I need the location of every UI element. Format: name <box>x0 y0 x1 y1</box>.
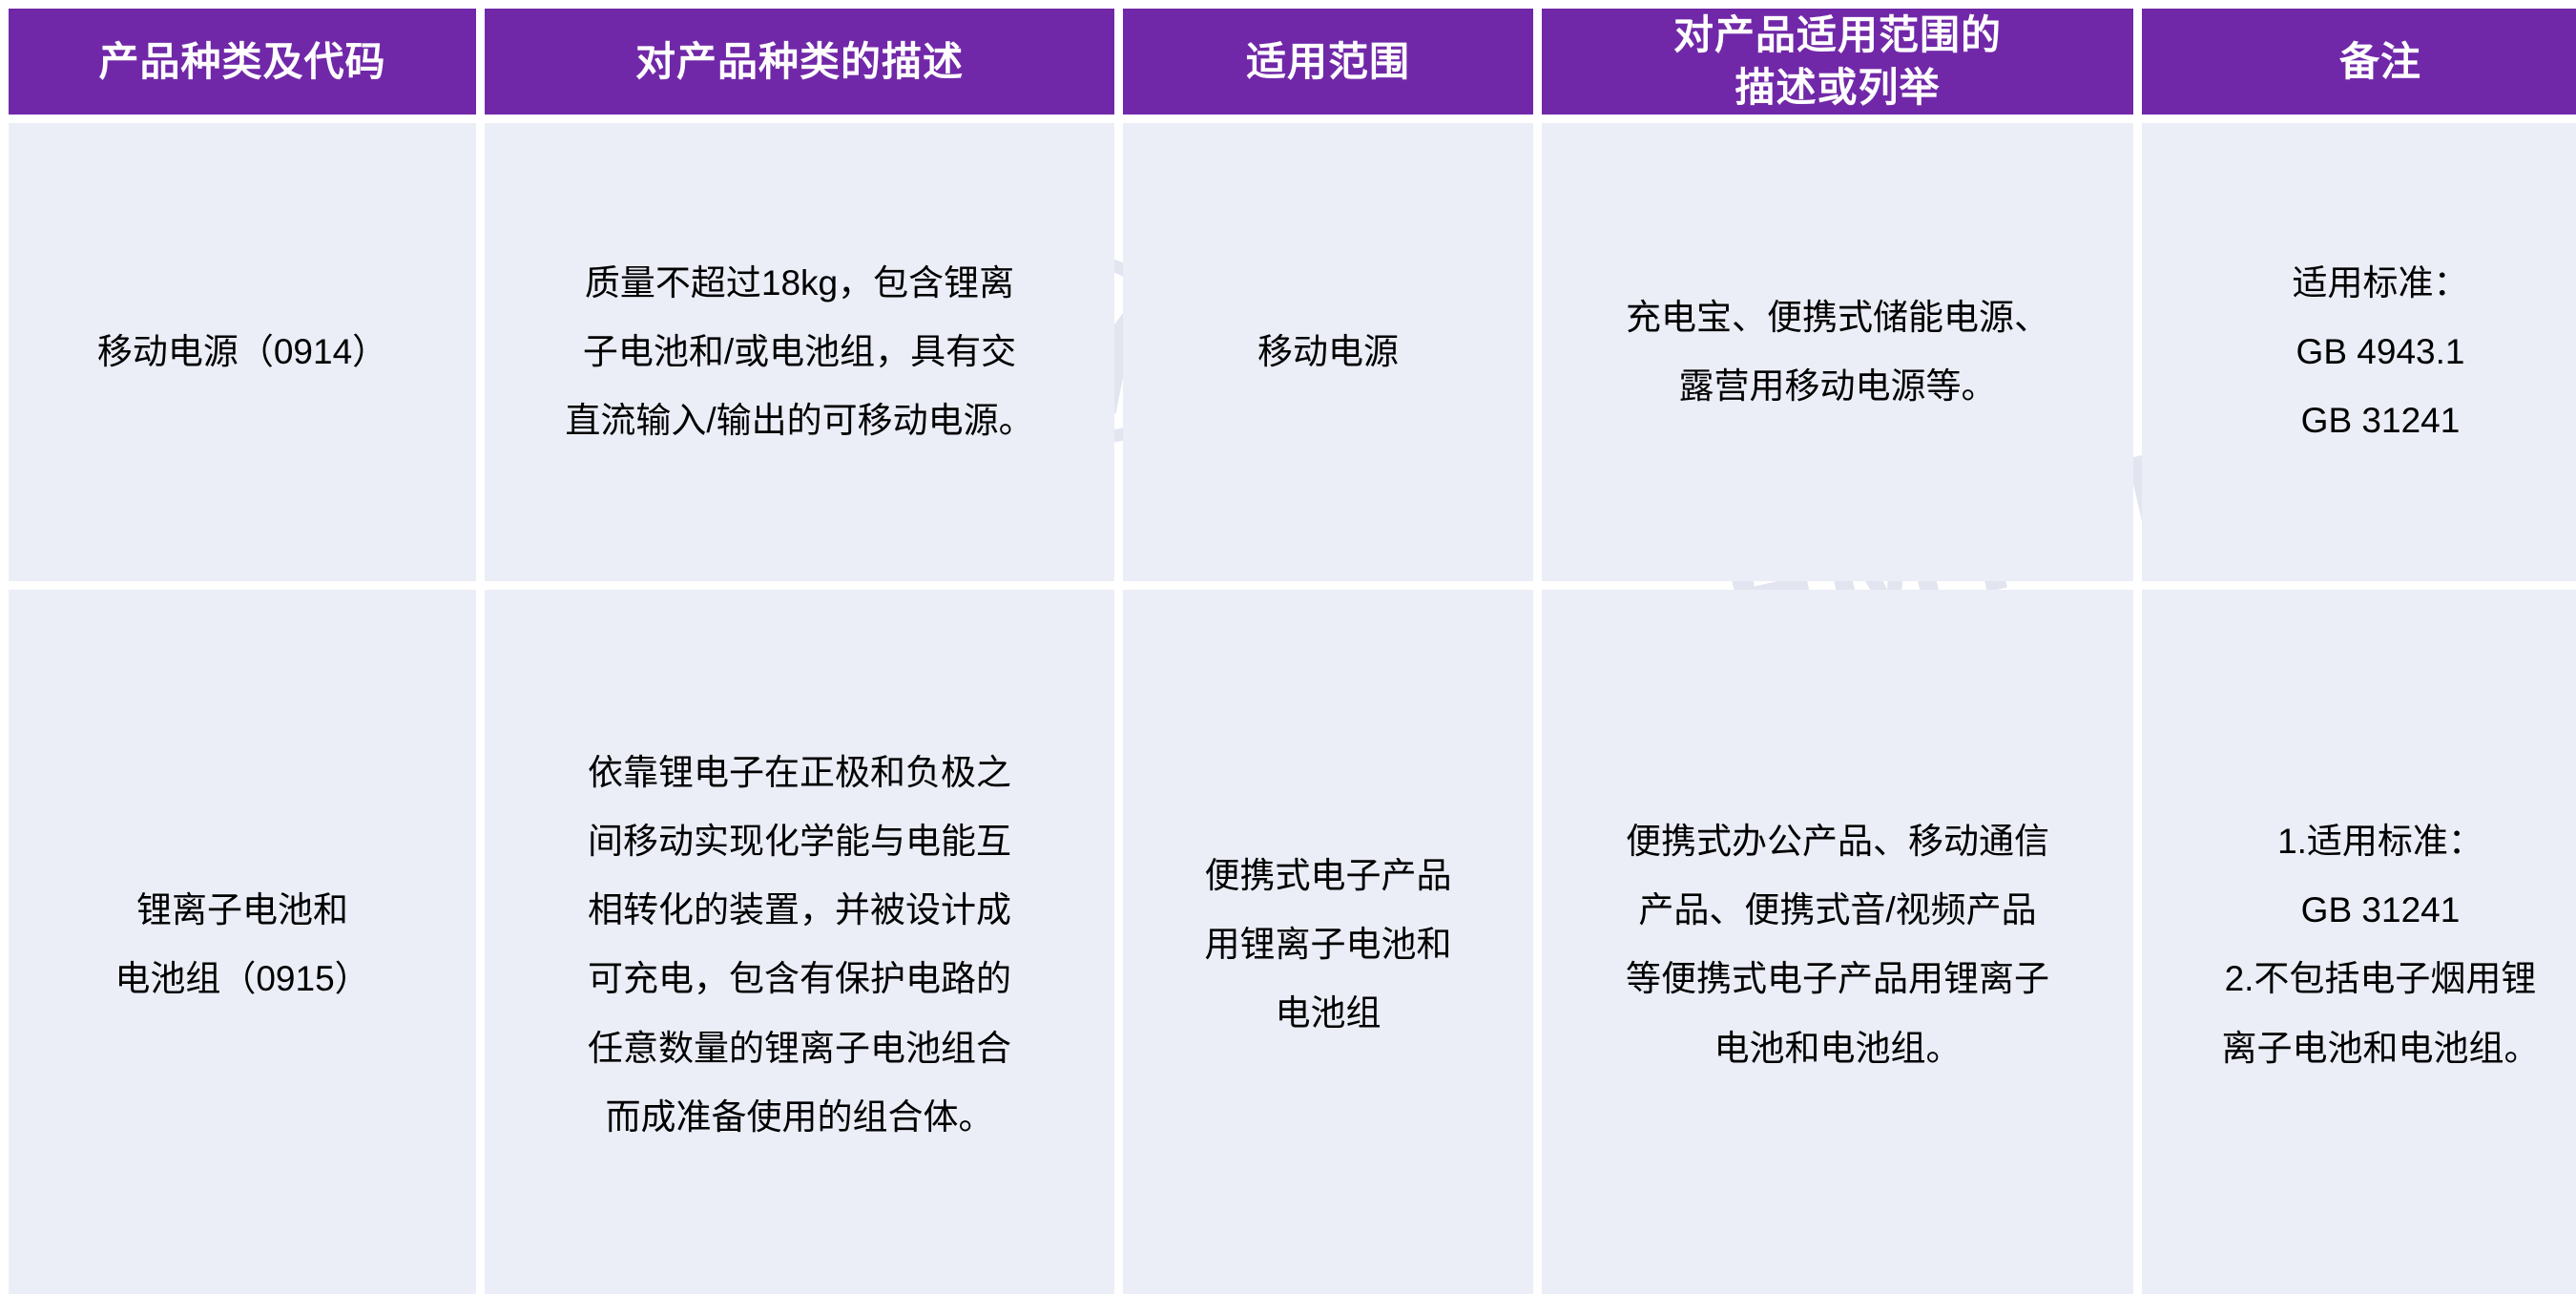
cell-line: 直流输入/输出的可移动电源。 <box>485 386 1114 455</box>
column-header-product-category-code: 产品种类及代码 <box>9 9 476 115</box>
cell-line: 移动电源 <box>1123 318 1533 386</box>
column-header-scope-description-or-list: 对产品适用范围的 描述或列举 <box>1542 9 2133 115</box>
cell-remarks-row2: 1.适用标准： GB 31241 2.不包括电子烟用锂 离子电池和电池组。 <box>2142 590 2576 1294</box>
cell-remarks-row1: 适用标准： GB 4943.1 GB 31241 <box>2142 123 2576 581</box>
cell-line: 离子电池和电池组。 <box>2142 1014 2576 1083</box>
header-line: 对产品种类的描述 <box>485 35 1114 88</box>
table-header-row: 产品种类及代码 对产品种类的描述 适用范围 对产品适用范围的 描 <box>9 9 2576 115</box>
cell-line: 间移动实现化学能与电能互 <box>485 807 1114 876</box>
table-row: 锂离子电池和 电池组（0915） 依靠锂电子在正极和负极之 间移动实现化学能与电… <box>9 590 2576 1294</box>
cell-line: 2.不包括电子烟用锂 <box>2142 945 2576 1013</box>
header-line: 描述或列举 <box>1542 61 2133 114</box>
cell-line: GB 31241 <box>2142 386 2576 455</box>
column-header-product-category-description: 对产品种类的描述 <box>485 9 1114 115</box>
cell-line: 电池组（0915） <box>9 945 476 1013</box>
cell-line: GB 4943.1 <box>2142 318 2576 386</box>
cell-line: 适用标准： <box>2142 249 2576 318</box>
cell-line: 等便携式电子产品用锂离子 <box>1542 945 2133 1013</box>
column-header-scope-of-application: 适用范围 <box>1123 9 1533 115</box>
cell-line: 锂离子电池和 <box>9 876 476 945</box>
cell-category-row1: 移动电源（0914） <box>9 123 476 581</box>
column-header-remarks: 备注 <box>2142 9 2576 115</box>
product-specification-table: 产品种类及代码 对产品种类的描述 适用范围 对产品适用范围的 描 <box>0 0 2576 1294</box>
cell-line: 用锂离子电池和 <box>1123 910 1533 979</box>
cell-line: 子电池和/或电池组，具有交 <box>485 318 1114 386</box>
cell-scope-examples-row1: 充电宝、便携式储能电源、 露营用移动电源等。 <box>1542 123 2133 581</box>
cell-line: 便携式办公产品、移动通信 <box>1542 807 2133 876</box>
cell-line: 相转化的装置，并被设计成 <box>485 876 1114 945</box>
cell-line: 电池组 <box>1123 979 1533 1048</box>
cell-category-row2: 锂离子电池和 电池组（0915） <box>9 590 476 1294</box>
cell-line: 1.适用标准： <box>2142 807 2576 876</box>
cell-line: 露营用移动电源等。 <box>1542 352 2133 421</box>
cell-line: 充电宝、便携式储能电源、 <box>1542 283 2133 352</box>
cell-line: 电池和电池组。 <box>1542 1014 2133 1083</box>
document-page: EMTEK EMTEK 产品种类及代码 <box>0 0 2576 1294</box>
cell-line: 可充电，包含有保护电路的 <box>485 945 1114 1013</box>
header-line: 适用范围 <box>1123 35 1533 88</box>
header-line: 对产品适用范围的 <box>1542 9 2133 61</box>
cell-description-row2: 依靠锂电子在正极和负极之 间移动实现化学能与电能互 相转化的装置，并被设计成 可… <box>485 590 1114 1294</box>
cell-scope-examples-row2: 便携式办公产品、移动通信 产品、便携式音/视频产品 等便携式电子产品用锂离子 电… <box>1542 590 2133 1294</box>
header-line: 备注 <box>2142 35 2576 88</box>
cell-line: 移动电源（0914） <box>9 318 476 386</box>
header-line: 产品种类及代码 <box>9 35 476 88</box>
cell-line: 任意数量的锂离子电池组合 <box>485 1014 1114 1083</box>
cell-line: 依靠锂电子在正极和负极之 <box>485 739 1114 807</box>
cell-line: 而成准备使用的组合体。 <box>485 1083 1114 1152</box>
cell-line: 产品、便携式音/视频产品 <box>1542 876 2133 945</box>
cell-description-row1: 质量不超过18kg，包含锂离 子电池和/或电池组，具有交 直流输入/输出的可移动… <box>485 123 1114 581</box>
cell-line: 质量不超过18kg，包含锂离 <box>485 249 1114 318</box>
cell-scope-row1: 移动电源 <box>1123 123 1533 581</box>
cell-scope-row2: 便携式电子产品 用锂离子电池和 电池组 <box>1123 590 1533 1294</box>
cell-line: GB 31241 <box>2142 876 2576 945</box>
cell-line: 便携式电子产品 <box>1123 842 1533 910</box>
table-row: 移动电源（0914） 质量不超过18kg，包含锂离 子电池和/或电池组，具有交 … <box>9 123 2576 581</box>
